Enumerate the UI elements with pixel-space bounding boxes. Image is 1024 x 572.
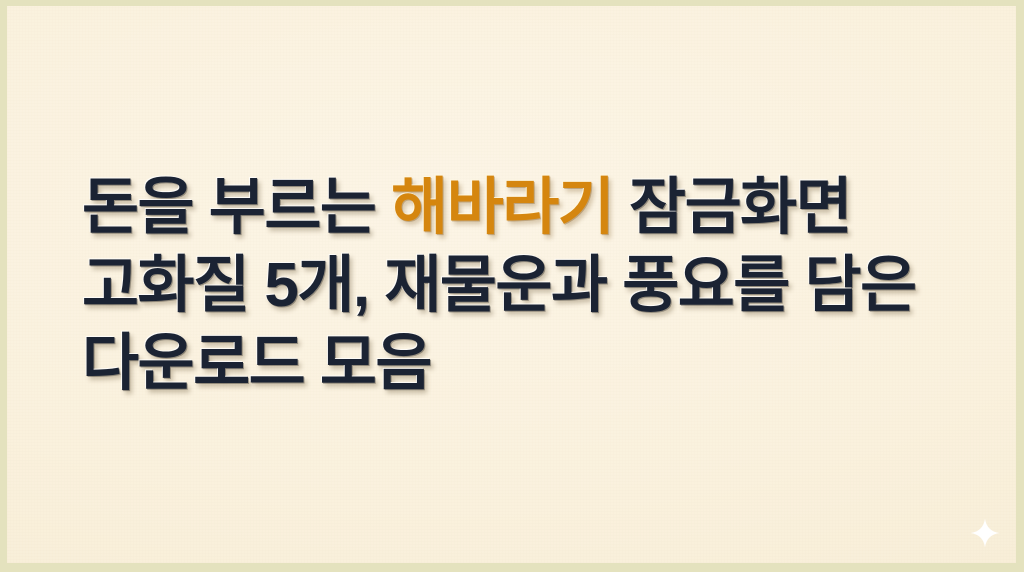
card-panel: 돈을 부르는 해바라기 잠금화면 고화질 5개, 재물운과 풍요를 담은 다운로… (7, 6, 1016, 563)
headline-line-2: 고화질 5개, 재물운과 풍요를 담은 (82, 247, 982, 325)
thumbnail-card: 돈을 부르는 해바라기 잠금화면 고화질 5개, 재물운과 풍요를 담은 다운로… (0, 0, 1024, 572)
headline-accent-keyword: 해바라기 (391, 173, 613, 242)
sparkle-icon (970, 518, 1000, 548)
headline-line-1-suffix: 잠금화면 (613, 173, 851, 242)
headline-line-3: 다운로드 모음 (82, 325, 982, 403)
headline-line-1-prefix: 돈을 부르는 (82, 173, 391, 242)
headline-block: 돈을 부르는 해바라기 잠금화면 고화질 5개, 재물운과 풍요를 담은 다운로… (82, 169, 982, 403)
headline-line-1: 돈을 부르는 해바라기 잠금화면 (82, 169, 982, 247)
